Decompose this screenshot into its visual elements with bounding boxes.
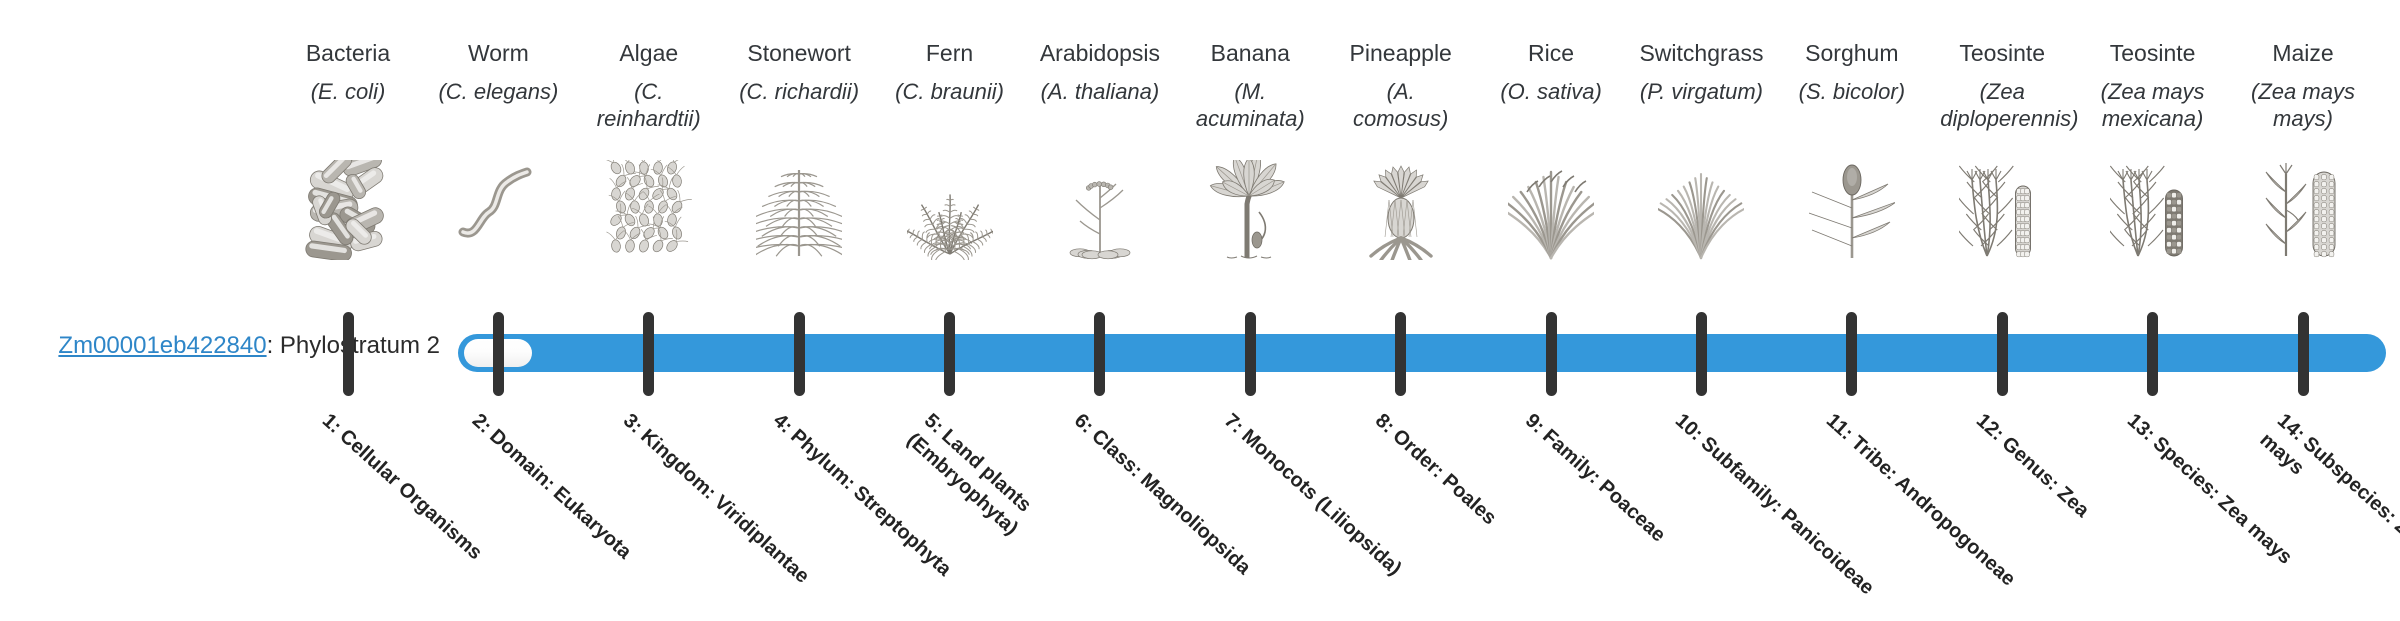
species-scientific-name: (Zea mays mexicana) bbox=[2091, 78, 2215, 132]
species-column: Banana(M. acuminata) bbox=[1188, 0, 1312, 300]
species-column-strip: Bacteria(E. coli)Worm(C. elegans)Algae(C… bbox=[470, 0, 2380, 580]
phylostratum-tick[interactable] bbox=[794, 312, 805, 396]
species-scientific-name: (A. comosus) bbox=[1339, 78, 1463, 132]
species-scientific-name: (P. virgatum) bbox=[1639, 78, 1763, 105]
species-scientific-name: (C. richardii) bbox=[737, 78, 861, 105]
species-common-name: Fern bbox=[888, 38, 1012, 68]
bacteria-icon bbox=[286, 160, 410, 260]
species-scientific-name: (C. elegans) bbox=[436, 78, 560, 105]
species-common-name: Rice bbox=[1489, 38, 1613, 68]
phylostratum-tick[interactable] bbox=[1846, 312, 1857, 396]
species-column: Stonewort(C. richardii) bbox=[737, 0, 861, 300]
phylostratum-tick[interactable] bbox=[1245, 312, 1256, 396]
species-common-name: Pineapple bbox=[1339, 38, 1463, 68]
phylostratum-tick[interactable] bbox=[2298, 312, 2309, 396]
phylostratum-tick[interactable] bbox=[1546, 312, 1557, 396]
species-column: Bacteria(E. coli) bbox=[286, 0, 410, 300]
species-common-name: Sorghum bbox=[1790, 38, 1914, 68]
sorghum-icon bbox=[1790, 160, 1914, 260]
fern-icon bbox=[888, 160, 1012, 260]
stonewort-icon bbox=[737, 160, 861, 260]
species-common-name: Arabidopsis bbox=[1038, 38, 1162, 68]
species-column: Teosinte(Zea diploperennis) bbox=[1940, 0, 2064, 300]
species-column: Worm(C. elegans) bbox=[436, 0, 560, 300]
species-common-name: Bacteria bbox=[286, 38, 410, 68]
species-scientific-name: (Zea diploperennis) bbox=[1940, 78, 2064, 132]
species-column: Arabidopsis(A. thaliana) bbox=[1038, 0, 1162, 300]
species-column: Maize(Zea mays mays) bbox=[2241, 0, 2365, 300]
algae-icon bbox=[587, 160, 711, 260]
species-column: Pineapple(A. comosus) bbox=[1339, 0, 1463, 300]
species-column: Sorghum(S. bicolor) bbox=[1790, 0, 1914, 300]
species-scientific-name: (S. bicolor) bbox=[1790, 78, 1914, 105]
rank-text: Cellular Organisms bbox=[335, 425, 486, 564]
switchgrass-icon bbox=[1639, 160, 1763, 260]
phylostratum-tick[interactable] bbox=[643, 312, 654, 396]
phylostratum-tick[interactable] bbox=[944, 312, 955, 396]
species-scientific-name: (E. coli) bbox=[286, 78, 410, 105]
species-common-name: Maize bbox=[2241, 38, 2365, 68]
species-scientific-name: (C. braunii) bbox=[888, 78, 1012, 105]
phylostratum-tick[interactable] bbox=[1395, 312, 1406, 396]
gene-id-link[interactable]: Zm00001eb422840 bbox=[58, 332, 266, 359]
species-common-name: Banana bbox=[1188, 38, 1312, 68]
banana-icon bbox=[1188, 160, 1312, 260]
phylostratum-bar[interactable] bbox=[458, 334, 2386, 372]
species-common-name: Algae bbox=[587, 38, 711, 68]
pineapple-icon bbox=[1339, 160, 1463, 260]
species-column: Rice(O. sativa) bbox=[1489, 0, 1613, 300]
species-common-name: Teosinte bbox=[2091, 38, 2215, 68]
species-column: Algae(C. reinhardtii) bbox=[587, 0, 711, 300]
species-scientific-name: (A. thaliana) bbox=[1038, 78, 1162, 105]
species-common-name: Switchgrass bbox=[1639, 38, 1763, 68]
species-scientific-name: (Zea mays mays) bbox=[2241, 78, 2365, 132]
gene-label-separator: : bbox=[267, 332, 280, 359]
teosinte-mexicana-icon bbox=[2091, 160, 2215, 260]
species-scientific-name: (C. reinhardtii) bbox=[587, 78, 711, 132]
species-column: Switchgrass(P. virgatum) bbox=[1639, 0, 1763, 300]
phylostratum-tick[interactable] bbox=[343, 312, 354, 396]
phylostratum-tick[interactable] bbox=[1696, 312, 1707, 396]
phylostratum-tick[interactable] bbox=[1094, 312, 1105, 396]
phylostratum-tick[interactable] bbox=[493, 312, 504, 396]
phylostratum-tick[interactable] bbox=[2147, 312, 2158, 396]
arabidopsis-icon bbox=[1038, 160, 1162, 260]
phylostratum-tick[interactable] bbox=[1997, 312, 2008, 396]
species-column: Teosinte(Zea mays mexicana) bbox=[2091, 0, 2215, 300]
maize-icon bbox=[2241, 160, 2365, 260]
species-column: Fern(C. braunii) bbox=[888, 0, 1012, 300]
rice-icon bbox=[1489, 160, 1613, 260]
species-common-name: Worm bbox=[436, 38, 560, 68]
species-scientific-name: (O. sativa) bbox=[1489, 78, 1613, 105]
species-common-name: Stonewort bbox=[737, 38, 861, 68]
teosinte-diplo-icon bbox=[1940, 160, 2064, 260]
gene-phylostratum-label: Zm00001eb422840: Phylostratum 2 bbox=[0, 332, 440, 360]
worm-icon bbox=[436, 160, 560, 260]
phylostratum-figure: Zm00001eb422840: Phylostratum 2 Bacteria… bbox=[0, 0, 2400, 580]
gene-phylostratum-value: Phylostratum 2 bbox=[280, 332, 440, 359]
species-common-name: Teosinte bbox=[1940, 38, 2064, 68]
species-scientific-name: (M. acuminata) bbox=[1188, 78, 1312, 132]
